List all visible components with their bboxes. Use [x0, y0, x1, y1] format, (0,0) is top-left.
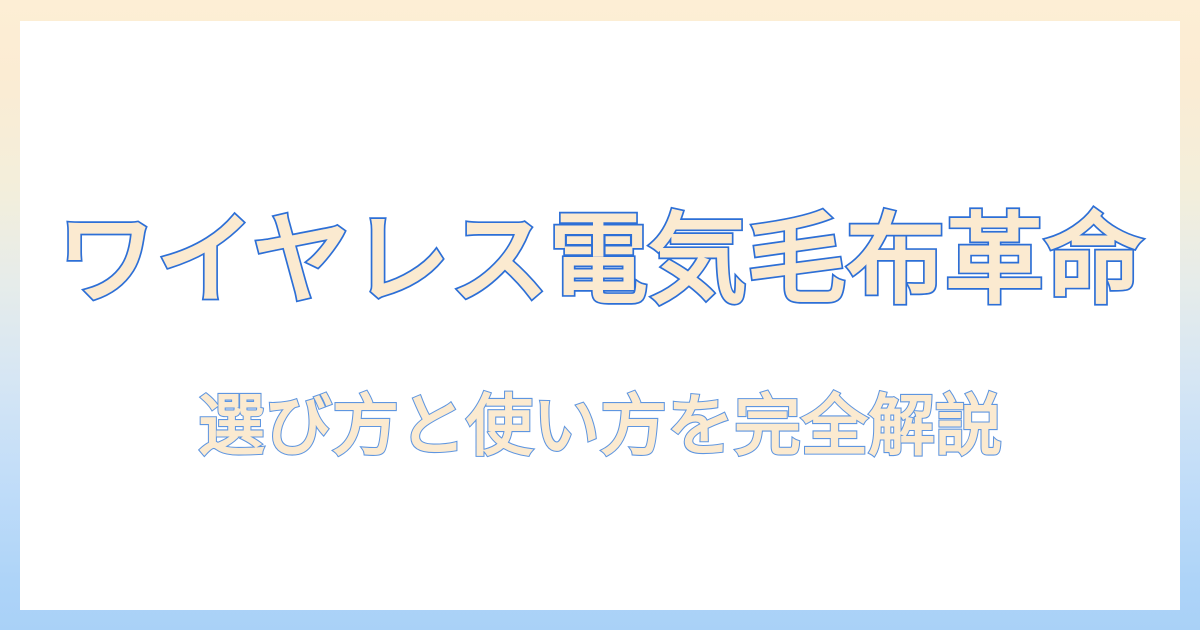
subheadline-container: 選び方と使い方を完全解説: [20, 391, 1180, 461]
page-subtitle: 選び方と使い方を完全解説: [198, 391, 1002, 461]
poster-canvas: ワイヤレス電気毛布革命 選び方と使い方を完全解説: [0, 0, 1200, 630]
poster-card-content: ワイヤレス電気毛布革命 選び方と使い方を完全解説: [20, 21, 1180, 610]
page-title: ワイヤレス電気毛布革命: [57, 209, 1143, 313]
headline-container: ワイヤレス電気毛布革命: [20, 209, 1180, 313]
poster-card: ワイヤレス電気毛布革命 選び方と使い方を完全解説: [20, 21, 1180, 610]
